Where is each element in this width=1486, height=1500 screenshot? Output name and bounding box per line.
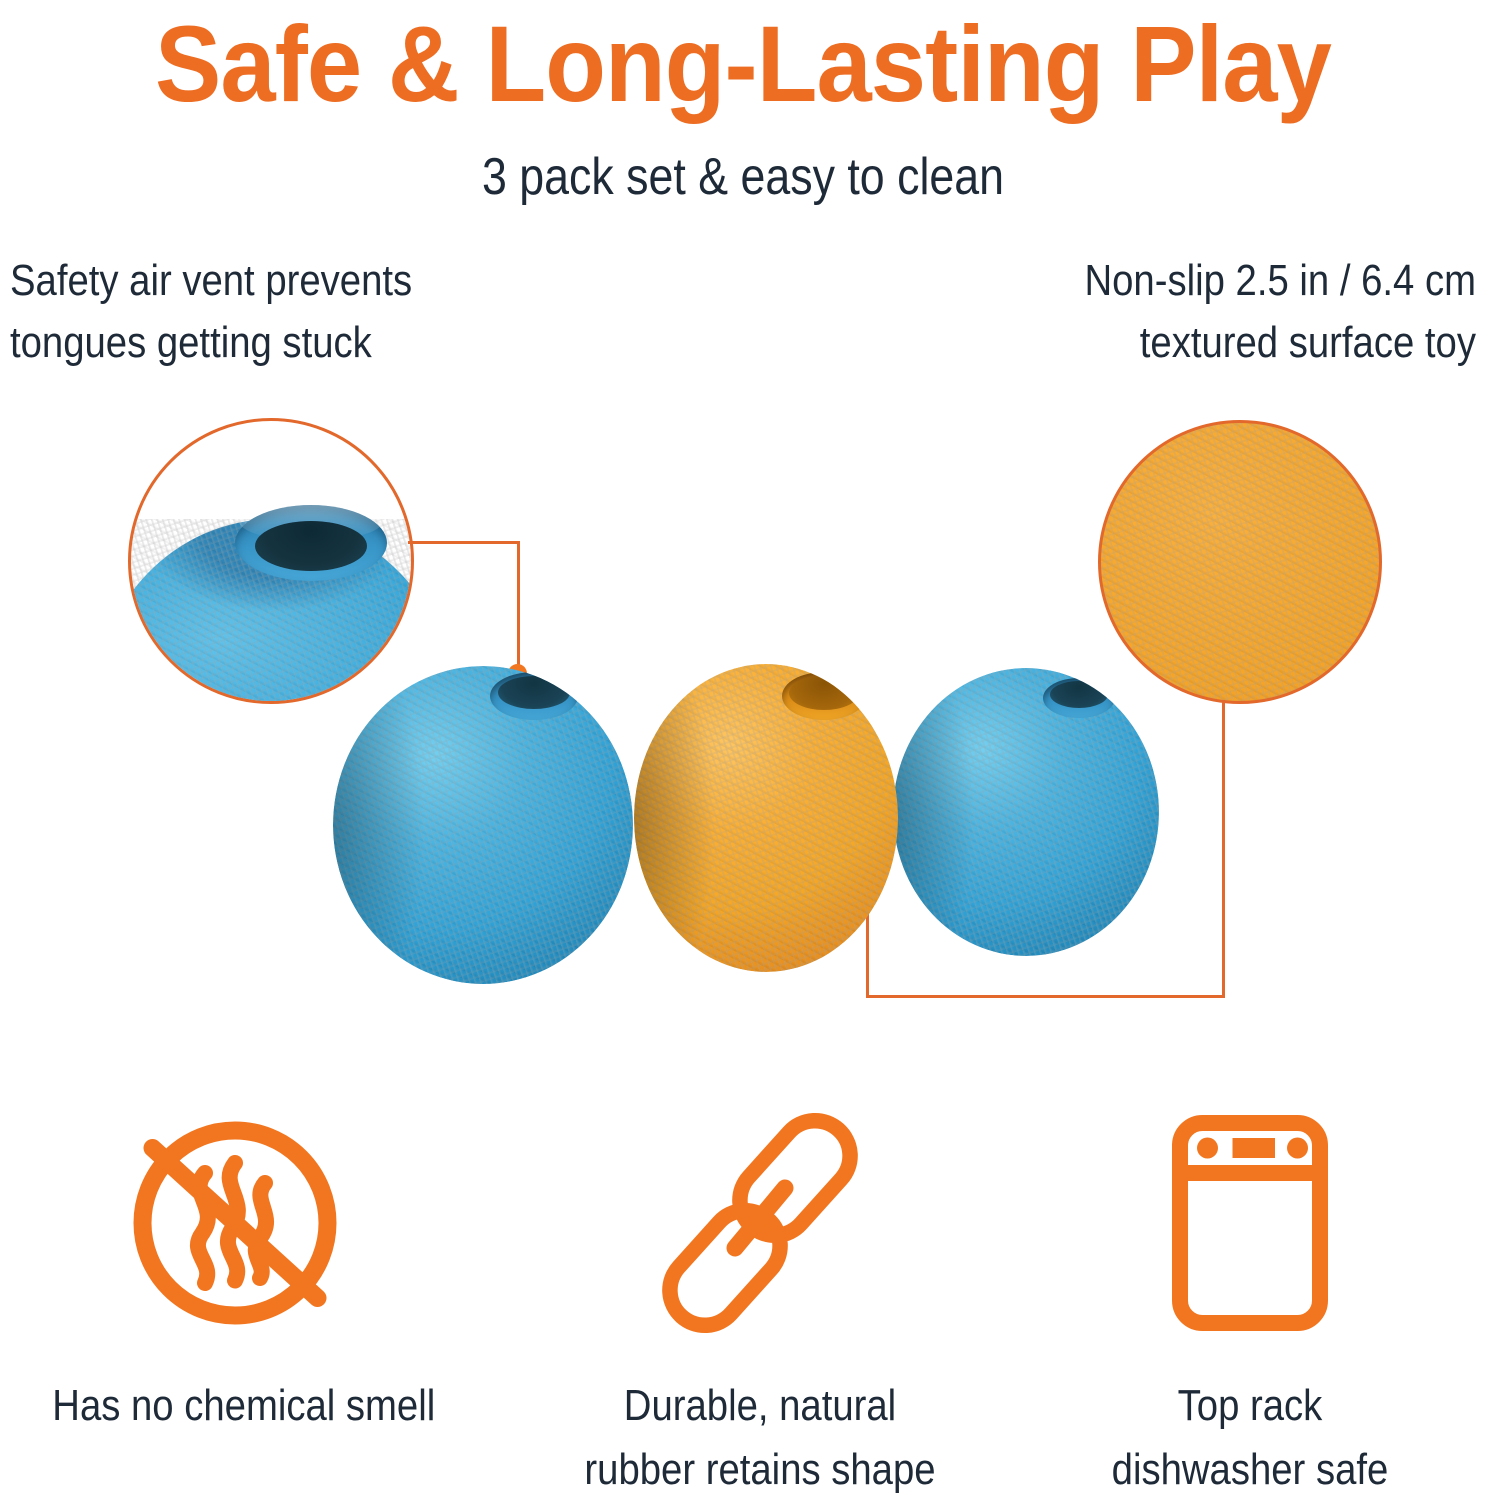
feature-label: Has no chemical smell (52, 1374, 417, 1438)
ball-air-vent-opening (498, 676, 570, 709)
air-vent-detail-circle (128, 418, 414, 704)
ball-air-vent-opening (789, 676, 859, 710)
infographic-page: Safe & Long-Lasting Play 3 pack set & ea… (0, 0, 1486, 1500)
product-ball-1 (333, 666, 633, 984)
feature-no-chemical-smell: Has no chemical smell (25, 1098, 445, 1438)
texture-detail-circle (1098, 420, 1382, 704)
callout-air-vent-caption: Safety air vent prevents tongues getting… (10, 250, 412, 375)
page-title: Safe & Long-Lasting Play (59, 6, 1426, 123)
feature-label-line2: dishwasher safe (1067, 1438, 1432, 1500)
leader-line-air-vent-vertical (517, 541, 520, 673)
page-subtitle: 3 pack set & easy to clean (104, 148, 1382, 208)
no-chemical-smell-icon (25, 1098, 445, 1348)
leader-line-air-vent-horizontal (408, 541, 520, 544)
air-vent-hole-opening (255, 521, 367, 571)
feature-label-line2: rubber retains shape (577, 1438, 942, 1500)
texture-highlight-overlay (1101, 423, 1379, 701)
feature-dishwasher-safe: Top rack dishwasher safe (1040, 1098, 1460, 1500)
callout-textured-surface-line2: textured surface toy (1085, 312, 1476, 374)
feature-durable-rubber: Durable, natural rubber retains shape (550, 1098, 970, 1500)
callout-air-vent-line2: tongues getting stuck (10, 312, 412, 374)
callout-textured-surface-line1: Non-slip 2.5 in / 6.4 cm (1085, 250, 1476, 312)
feature-label-line1: Durable, natural (577, 1374, 942, 1438)
dishwasher-icon (1040, 1098, 1460, 1348)
feature-label: Durable, natural rubber retains shape (577, 1374, 942, 1500)
callout-air-vent-line1: Safety air vent prevents (10, 250, 412, 312)
ball-shading (634, 664, 898, 972)
leader-line-texture-vertical-right (1222, 700, 1225, 997)
ball-shading (893, 668, 1159, 956)
chain-link-icon (550, 1098, 970, 1348)
product-ball-2 (634, 664, 898, 972)
ball-air-vent-opening (1050, 681, 1108, 708)
feature-label-line1: Has no chemical smell (52, 1374, 417, 1438)
ball-shading (333, 666, 633, 984)
product-ball-3 (893, 668, 1159, 956)
feature-label-line1: Top rack (1067, 1374, 1432, 1438)
feature-label: Top rack dishwasher safe (1067, 1374, 1432, 1500)
callout-textured-surface-caption: Non-slip 2.5 in / 6.4 cm textured surfac… (1085, 250, 1476, 375)
leader-line-texture-horizontal (866, 995, 1225, 998)
